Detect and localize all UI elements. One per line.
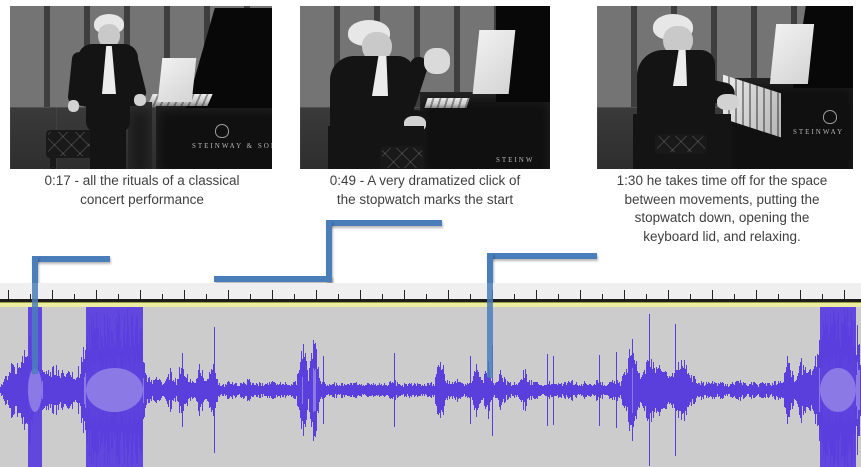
ruler-tick (184, 290, 185, 299)
ruler-tick (272, 290, 273, 299)
ruler-tick (448, 290, 449, 299)
caption-0-17-line-2: concert performance (6, 191, 278, 210)
caption-0-49-line-2: the stopwatch marks the start (292, 191, 558, 210)
ruler-tick (140, 290, 141, 299)
ruler-tick (52, 290, 53, 299)
piano-bench (655, 134, 707, 154)
ruler-tick (360, 290, 361, 299)
piano-lyre-emblem (823, 110, 837, 124)
caption-0-17: 0:17 - all the rituals of a classical co… (6, 172, 278, 209)
ruler-tick (800, 290, 801, 299)
playhead-marker-2[interactable] (487, 283, 493, 378)
connector-0-49-vertical (326, 220, 332, 282)
ruler-tick (580, 290, 581, 299)
waveform-loud-region-core (820, 368, 856, 412)
waveform-loud-region-core (86, 368, 143, 412)
ruler-tick (756, 290, 757, 299)
ruler-tick (668, 290, 669, 299)
performer-right-hand (134, 94, 146, 106)
music-sheet (158, 58, 197, 102)
caption-0-49: 0:49 - A very dramatized click of the st… (292, 172, 558, 209)
caption-0-49-line-1: 0:49 - A very dramatized click of (292, 172, 558, 191)
timeline-ruler-ticks (0, 288, 861, 299)
caption-1-30-line-2: between movements, putting the (586, 191, 858, 210)
ruler-tick (844, 290, 845, 299)
ruler-tick (624, 290, 625, 299)
piano-body (156, 102, 272, 169)
ruler-tick (96, 290, 97, 299)
piano-brand-text: STEINWAY & SONS (192, 142, 272, 150)
thumbnail-3-scene: STEINWAY (597, 6, 853, 169)
music-sheet (473, 30, 516, 94)
piano-brand-text: STEINWAY (793, 128, 844, 136)
performer-stopwatch-hand (424, 48, 450, 74)
thumbnail-2-scene: STEINW (300, 6, 550, 169)
ruler-tick (712, 290, 713, 299)
audio-waveform-timeline[interactable] (0, 283, 861, 467)
music-sheet (770, 24, 814, 84)
connector-0-49-horizontal (326, 220, 442, 226)
thumbnail-relaxing-between-movements: STEINWAY (597, 6, 853, 169)
piano-brand-text: STEINW (496, 156, 534, 164)
caption-0-17-line-1: 0:17 - all the rituals of a classical (6, 172, 278, 191)
connector-0-17-horizontal (32, 256, 110, 262)
ruler-tick (536, 290, 537, 299)
piano-bench-leg (50, 156, 56, 169)
thumbnail-1-scene: STEINWAY & SONS (10, 6, 272, 169)
connector-1-30-horizontal (487, 253, 597, 259)
thumbnail-walking-to-piano: STEINWAY & SONS (10, 6, 272, 169)
waveform-panel[interactable] (0, 307, 861, 467)
timeline-ruler[interactable] (0, 283, 861, 299)
thumbnail-stopwatch-click: STEINW (300, 6, 550, 169)
caption-1-30-line-1: 1:30 he takes time off for the space (586, 172, 858, 191)
caption-1-30-line-3: stopwatch down, opening the (586, 209, 858, 228)
performer-left-hand (68, 100, 79, 112)
waveform-canvas (0, 307, 861, 467)
piano-lyre-emblem (215, 124, 229, 138)
caption-1-30-line-4: keyboard lid, and relaxing. (586, 228, 858, 247)
caption-1-30: 1:30 he takes time off for the space bet… (586, 172, 858, 246)
connector-0-49-tail (214, 276, 332, 282)
piano-bench (380, 146, 424, 169)
playhead-marker-1[interactable] (32, 283, 38, 374)
ruler-tick (228, 290, 229, 299)
performer-hand (717, 94, 739, 110)
ruler-tick (8, 290, 9, 299)
ruler-tick (316, 290, 317, 299)
piano-leg (128, 102, 152, 169)
ruler-tick (404, 290, 405, 299)
piano-keyboard (424, 98, 469, 108)
performer-legs (90, 116, 126, 169)
waveform-loud-region-core (28, 368, 42, 412)
